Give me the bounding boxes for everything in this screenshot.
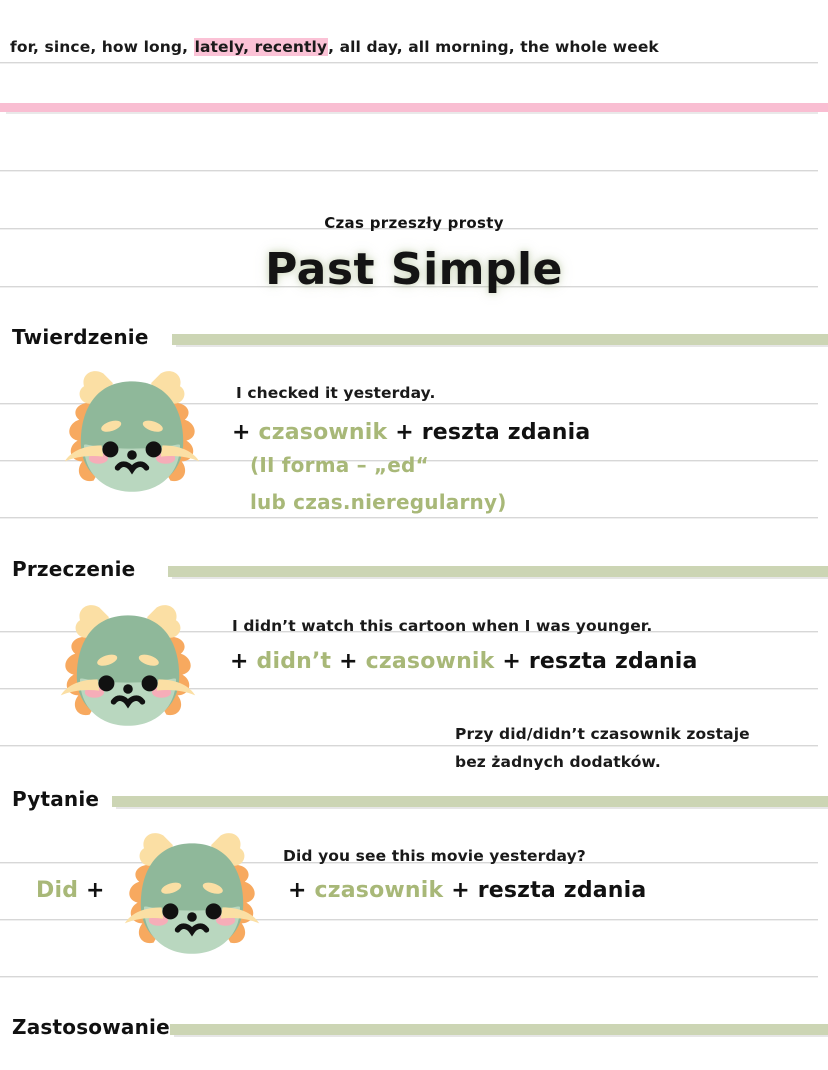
formula-part: czasownik: [259, 420, 388, 445]
dragon-head-icon: [48, 590, 208, 740]
example-sentence-twierdzenie: I checked it yesterday.: [236, 384, 435, 402]
formula-twierdzenie: + czasownik + reszta zdania: [232, 420, 590, 445]
formula-part: czasownik: [366, 649, 495, 674]
note-twierdzenie-line1: (II forma – „ed“: [250, 453, 429, 477]
formula-part: reszta zdania: [529, 649, 698, 674]
rule-line: [0, 517, 818, 518]
example-sentence-przeczenie: I didn’t watch this cartoon when I was y…: [232, 617, 652, 635]
formula-part: +: [288, 878, 315, 903]
formula-part: czasownik: [315, 878, 444, 903]
section-heading-twierdzenie: Twierdzenie: [12, 325, 149, 349]
example-sentence-pytanie: Did you see this movie yesterday?: [283, 847, 586, 865]
pink-divider: [0, 103, 828, 112]
formula-part: didn’t: [257, 649, 332, 674]
formula-part: +: [495, 649, 529, 674]
section-bar-przeczenie: [168, 566, 828, 577]
page-subtitle: Czas przeszły prosty: [0, 214, 828, 232]
page-title: Past Simple: [0, 244, 828, 295]
formula-przeczenie: + didn’t + czasownik + reszta zdania: [230, 649, 698, 674]
formula-part: +: [387, 420, 421, 445]
dragon-head-icon: [52, 356, 212, 506]
formula-part: +: [331, 649, 365, 674]
section-heading-pytanie: Pytanie: [12, 787, 99, 811]
time-expressions-prefix: for, since, how long,: [10, 38, 194, 56]
formula-part: +: [232, 420, 259, 445]
rule-line: [0, 62, 818, 63]
question-prefix-did: Did +: [36, 878, 105, 903]
notebook-page: for, since, how long, lately, recently, …: [0, 0, 828, 1070]
section-heading-przeczenie: Przeczenie: [12, 557, 135, 581]
section-heading-zastosowanie: Zastosowanie: [12, 1015, 170, 1039]
time-expressions-highlight: lately, recently: [194, 38, 329, 56]
formula-part: reszta zdania: [422, 420, 591, 445]
formula-part: +: [443, 878, 477, 903]
rule-line: [0, 745, 818, 746]
section-bar-pytanie: [112, 796, 828, 807]
section-bar-zastosowanie: [170, 1024, 828, 1035]
rule-line: [0, 170, 818, 171]
formula-part: +: [230, 649, 257, 674]
time-expressions-suffix: , all day, all morning, the whole week: [328, 38, 659, 56]
note-przeczenie-line1: Przy did/didn’t czasownik zostaje: [455, 725, 750, 743]
question-prefix-plus: +: [86, 878, 105, 903]
formula-pytanie: + czasownik + reszta zdania: [288, 878, 646, 903]
note-twierdzenie-line2: lub czas.nieregularny): [250, 490, 507, 514]
rule-line: [0, 976, 818, 977]
question-prefix-did-label: Did: [36, 878, 78, 903]
section-bar-twierdzenie: [172, 334, 828, 345]
note-przeczenie-line2: bez żadnych dodatków.: [455, 753, 661, 771]
dragon-head-icon: [112, 818, 272, 968]
time-expressions-line: for, since, how long, lately, recently, …: [10, 38, 659, 56]
formula-part: reszta zdania: [478, 878, 647, 903]
